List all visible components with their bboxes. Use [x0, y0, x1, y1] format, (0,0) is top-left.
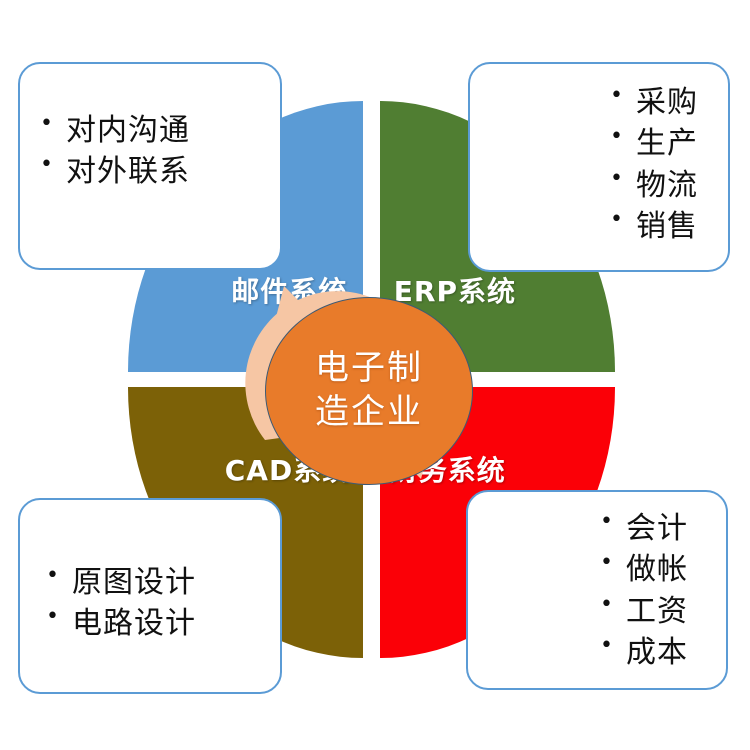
list-item: 对外联系: [38, 151, 190, 192]
list-item: 对内沟通: [38, 110, 190, 151]
hub-circle[interactable]: 电子制 造企业: [265, 297, 473, 485]
callout-cad: 原图设计 电路设计: [18, 498, 282, 694]
list-item: 会计: [598, 508, 688, 549]
callout-erp-list: 采购 生产 物流 销售: [608, 82, 698, 248]
callout-mail: 对内沟通 对外联系: [18, 62, 282, 270]
list-item: 物流: [608, 165, 698, 206]
callout-finance-list: 会计 做帐 工资 成本: [598, 508, 688, 674]
list-item: 采购: [608, 82, 698, 123]
list-item: 成本: [598, 632, 688, 673]
list-item: 销售: [608, 206, 698, 247]
list-item: 电路设计: [44, 603, 196, 644]
list-item: 生产: [608, 123, 698, 164]
list-item: 做帐: [598, 549, 688, 590]
callout-finance: 会计 做帐 工资 成本: [466, 490, 728, 690]
list-item: 工资: [598, 591, 688, 632]
diagram-canvas: 邮件系统 ERP系统 CAD系统 财务系统 电子制 造企业 对内沟通 对外联系: [0, 0, 750, 750]
hub-label: 电子制 造企业: [315, 347, 423, 434]
list-item: 原图设计: [44, 562, 196, 603]
callout-erp: 采购 生产 物流 销售: [468, 62, 730, 272]
callout-mail-list: 对内沟通 对外联系: [38, 110, 190, 193]
callout-cad-list: 原图设计 电路设计: [44, 562, 196, 645]
